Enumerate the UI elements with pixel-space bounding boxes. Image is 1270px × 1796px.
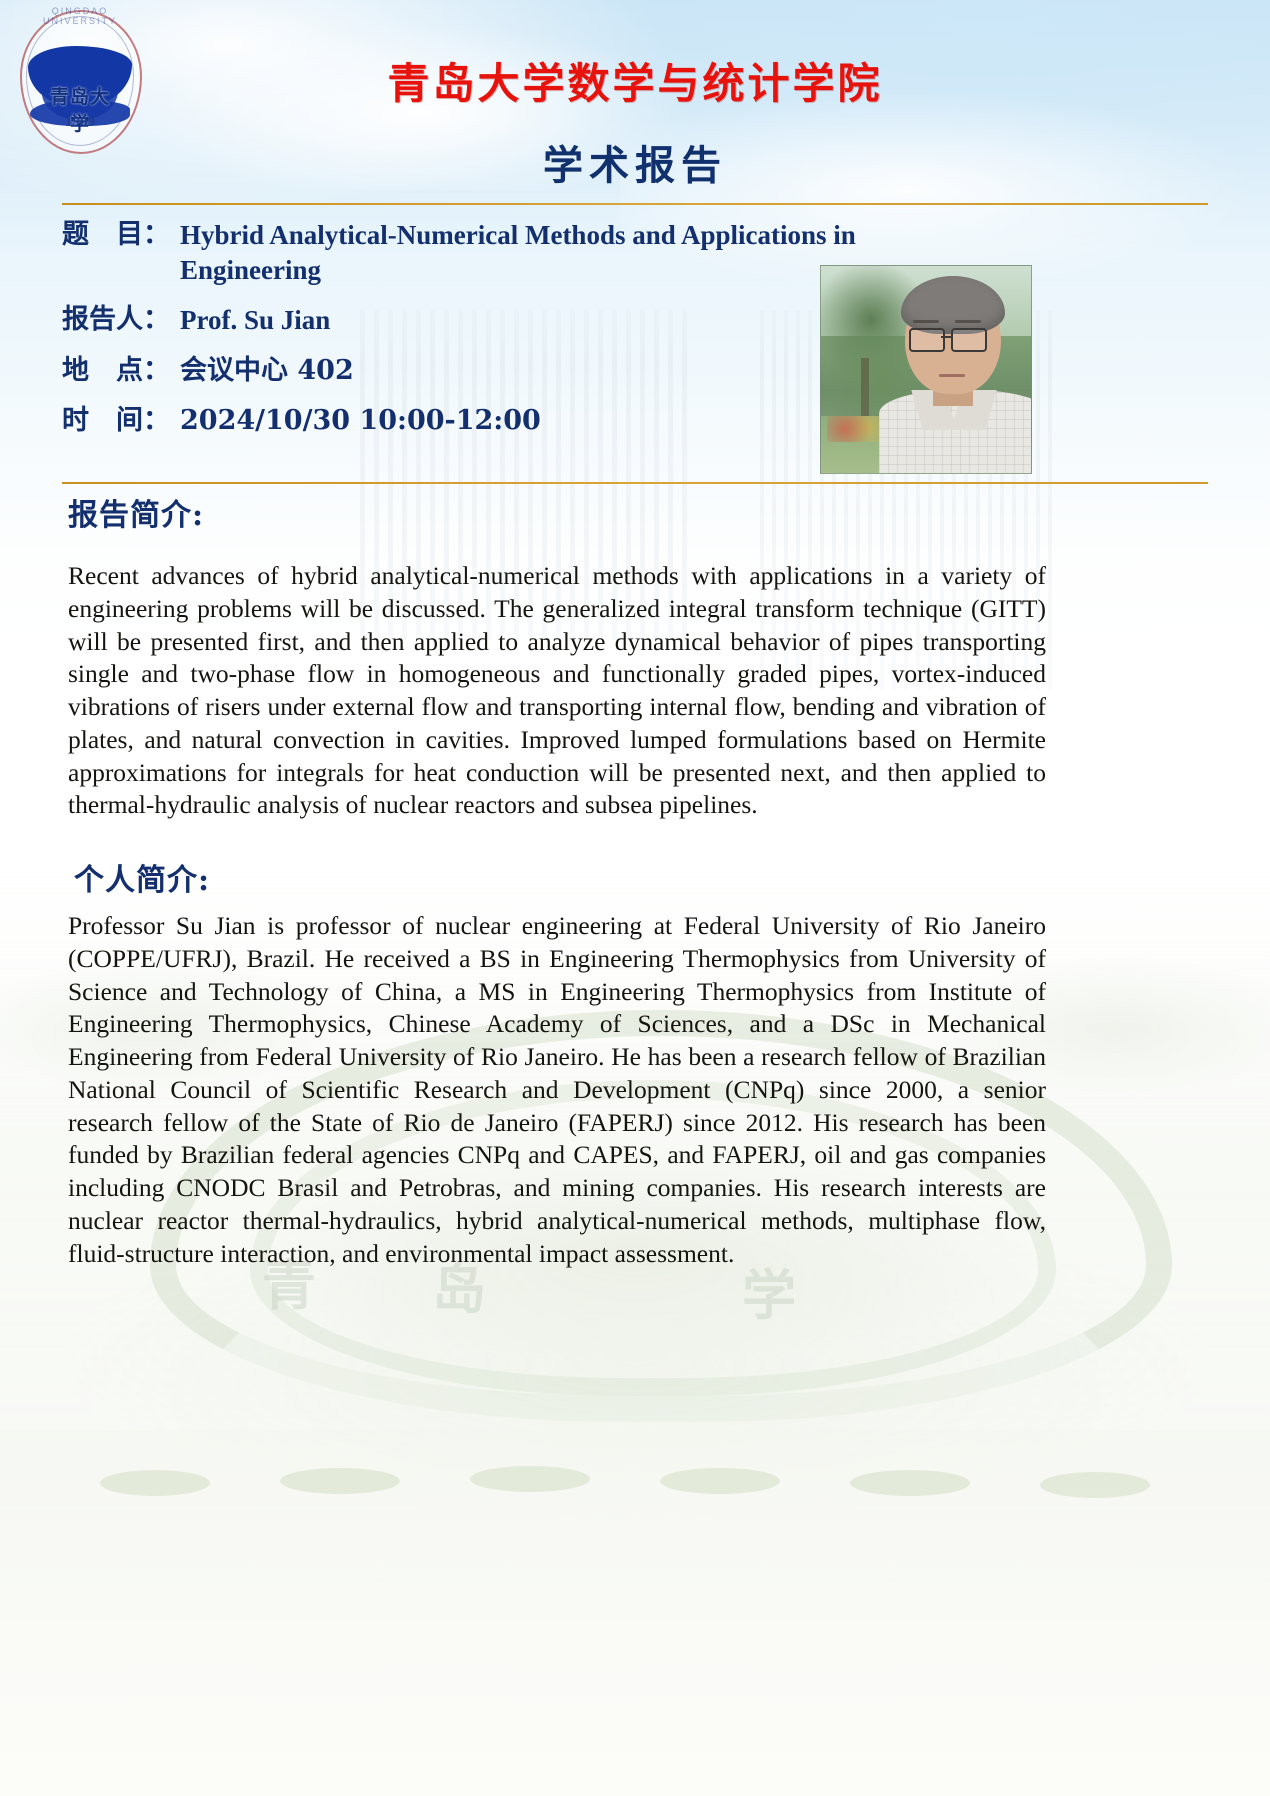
time-label: 时 间： [62,404,180,439]
title-value: Hybrid Analytical-Numerical Methods and … [180,218,980,287]
hedge-shape [280,1468,400,1494]
logo-founding-year: 1909 [44,114,116,131]
campus-plaza-watermark [0,1430,1270,1796]
hedge-shape [850,1470,970,1496]
hedge-shape [660,1468,780,1494]
divider-top [62,203,1208,205]
info-row-title: 题 目： Hybrid Analytical-Numerical Methods… [62,218,1002,287]
biography-heading: 个人简介: [74,855,210,899]
time-value: 2024/10/30 10:00-12:00 [180,404,1002,439]
hedge-shape [1040,1472,1150,1498]
academic-seminar-poster: 青 岛 学 QINGDAO UNIVERSITY 青岛大学 1909 青岛大学数… [0,0,1270,1796]
venue-value: 会议中心 402 [180,354,1002,389]
hedge-shape [100,1470,210,1496]
document-kind-title: 学术报告 [0,133,1270,191]
title-label: 题 目： [62,218,180,253]
abstract-heading: 报告简介: [68,490,204,534]
biography-body: Professor Su Jian is professor of nuclea… [68,910,1046,1270]
speaker-value: Prof. Su Jian [180,303,1002,338]
divider-middle [62,482,1208,484]
abstract-body: Recent advances of hybrid analytical-num… [68,560,1046,822]
organization-title: 青岛大学数学与统计学院 [0,50,1270,111]
hedge-shape [470,1466,590,1492]
watermark-character: 学 [742,1268,796,1322]
venue-label: 地 点： [62,354,180,389]
info-row-speaker: 报告人： Prof. Su Jian [62,303,1002,338]
seminar-info-block: 题 目： Hybrid Analytical-Numerical Methods… [62,218,1002,455]
info-row-time: 时 间： 2024/10/30 10:00-12:00 [62,404,1002,439]
speaker-label: 报告人： [62,303,180,338]
info-row-venue: 地 点： 会议中心 402 [62,354,1002,389]
